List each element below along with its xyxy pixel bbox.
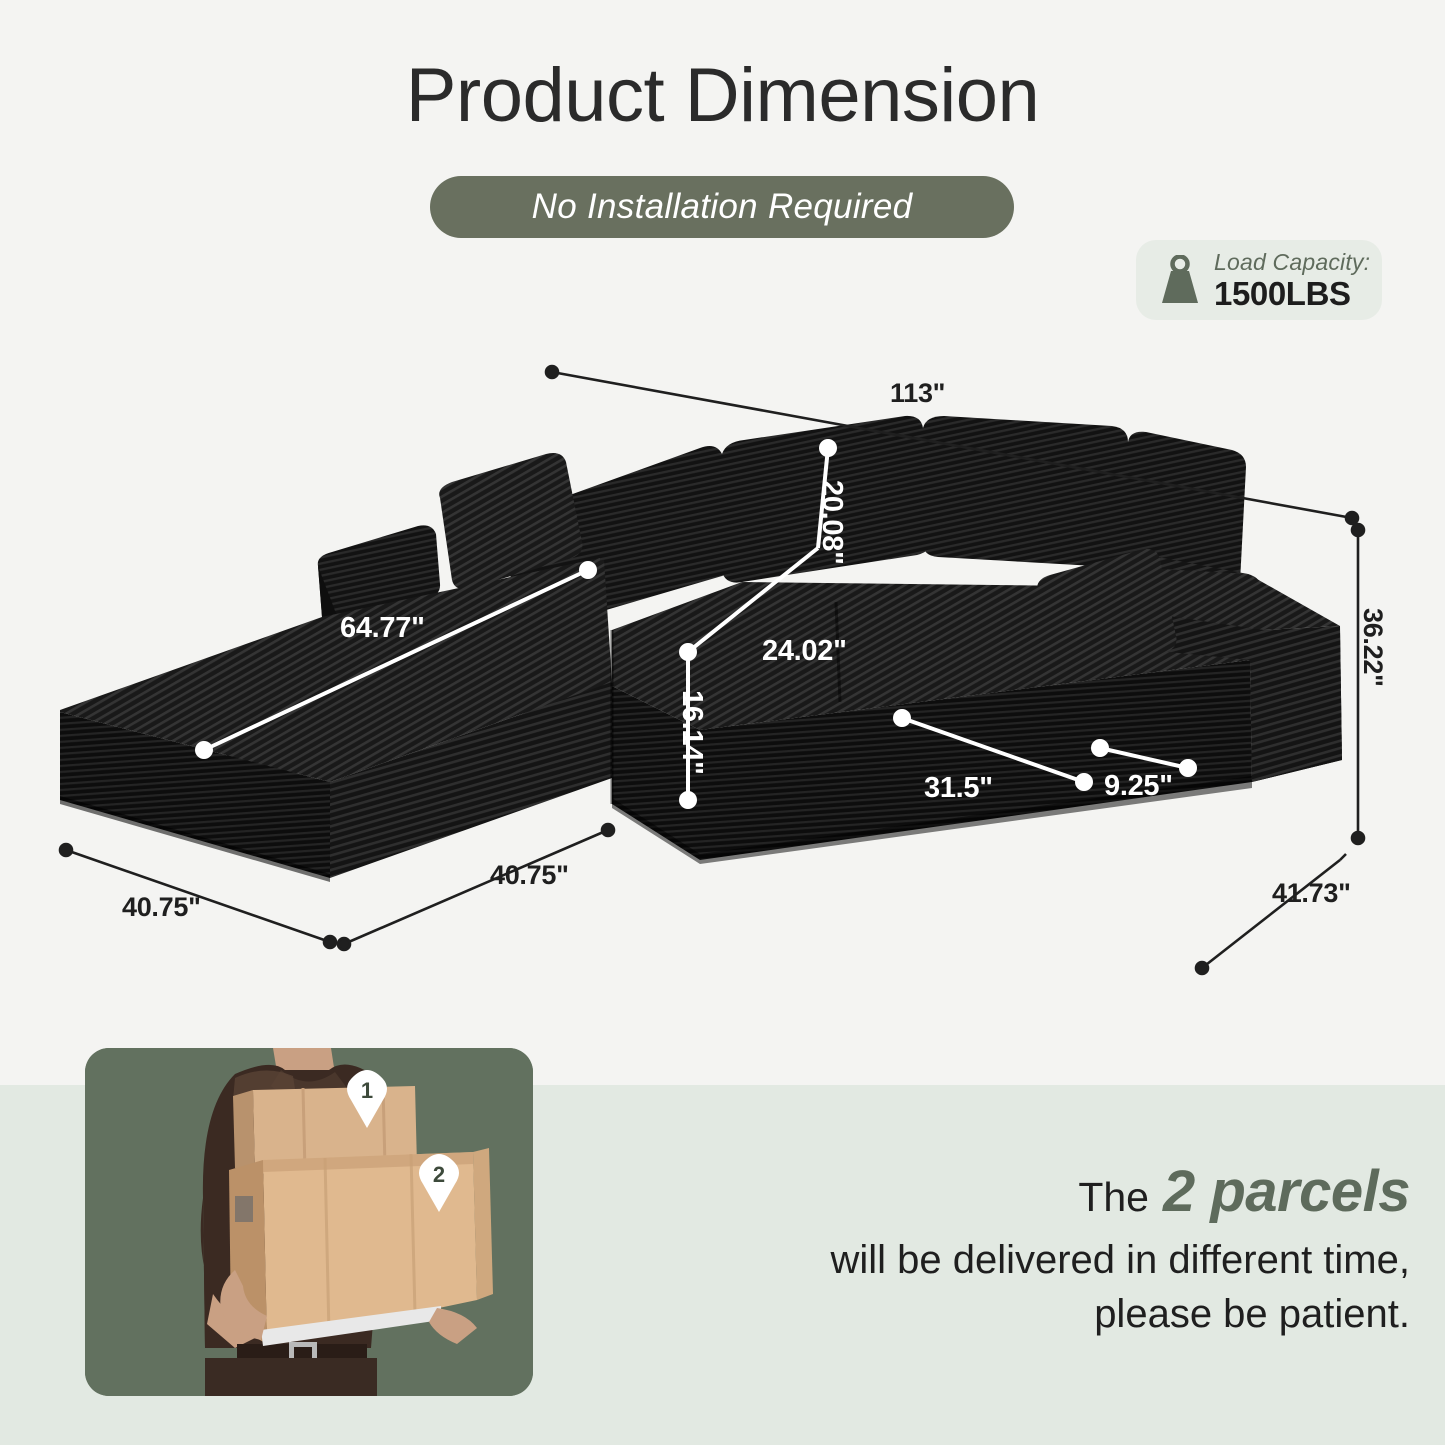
- sofa-dimension-diagram: 113" 36.22" 64.77" 20.08" 24.02" 16.14" …: [0, 330, 1445, 1020]
- dimension-label-chaise-depth-left: 40.75": [122, 892, 201, 923]
- sofa-illustration: [0, 330, 1445, 1020]
- dimension-label-chaise-depth-right: 40.75": [490, 860, 569, 891]
- load-capacity-text: Load Capacity: 1500LBS: [1214, 251, 1370, 310]
- load-capacity-label: Load Capacity:: [1214, 251, 1370, 274]
- load-capacity-badge: Load Capacity: 1500LBS: [1136, 240, 1382, 320]
- delivery-message: The2 parcels will be delivered in differ…: [600, 1160, 1410, 1341]
- delivery-photo: [85, 1048, 533, 1396]
- svg-text:2: 2: [433, 1162, 445, 1187]
- svg-text:1: 1: [361, 1078, 373, 1103]
- dimension-label-backrest-height: 20.08": [815, 480, 848, 565]
- load-capacity-value: 1500LBS: [1214, 277, 1370, 310]
- delivery-photo-card: 1 2: [85, 1048, 533, 1396]
- no-installation-label: No Installation Required: [532, 187, 913, 227]
- parcel-marker-1: 1: [343, 1070, 391, 1130]
- delivery-line-3: please be patient.: [600, 1287, 1410, 1341]
- page-title: Product Dimension: [0, 52, 1445, 139]
- dimension-label-chaise-length: 64.77": [340, 612, 425, 645]
- parcel-marker-2: 2: [415, 1154, 463, 1214]
- dimension-label-seat-width: 31.5": [924, 772, 993, 805]
- dimension-label-seat-depth: 24.02": [762, 635, 847, 668]
- delivery-parcels-highlight: 2 parcels: [1163, 1159, 1410, 1224]
- delivery-the-label: The: [1078, 1174, 1149, 1220]
- weight-icon: [1158, 255, 1202, 305]
- delivery-line-2: will be delivered in different time,: [600, 1233, 1410, 1287]
- dimension-label-overall-height: 36.22": [1357, 608, 1388, 687]
- dimension-label-sofa-depth: 41.73": [1272, 878, 1351, 909]
- dimension-label-seat-height: 16.14": [675, 690, 708, 775]
- no-installation-badge: No Installation Required: [430, 176, 1014, 238]
- dimension-label-overall-width: 113": [890, 378, 945, 409]
- dimension-label-armrest-width: 9.25": [1104, 770, 1173, 803]
- delivery-line-1: The2 parcels: [600, 1160, 1410, 1225]
